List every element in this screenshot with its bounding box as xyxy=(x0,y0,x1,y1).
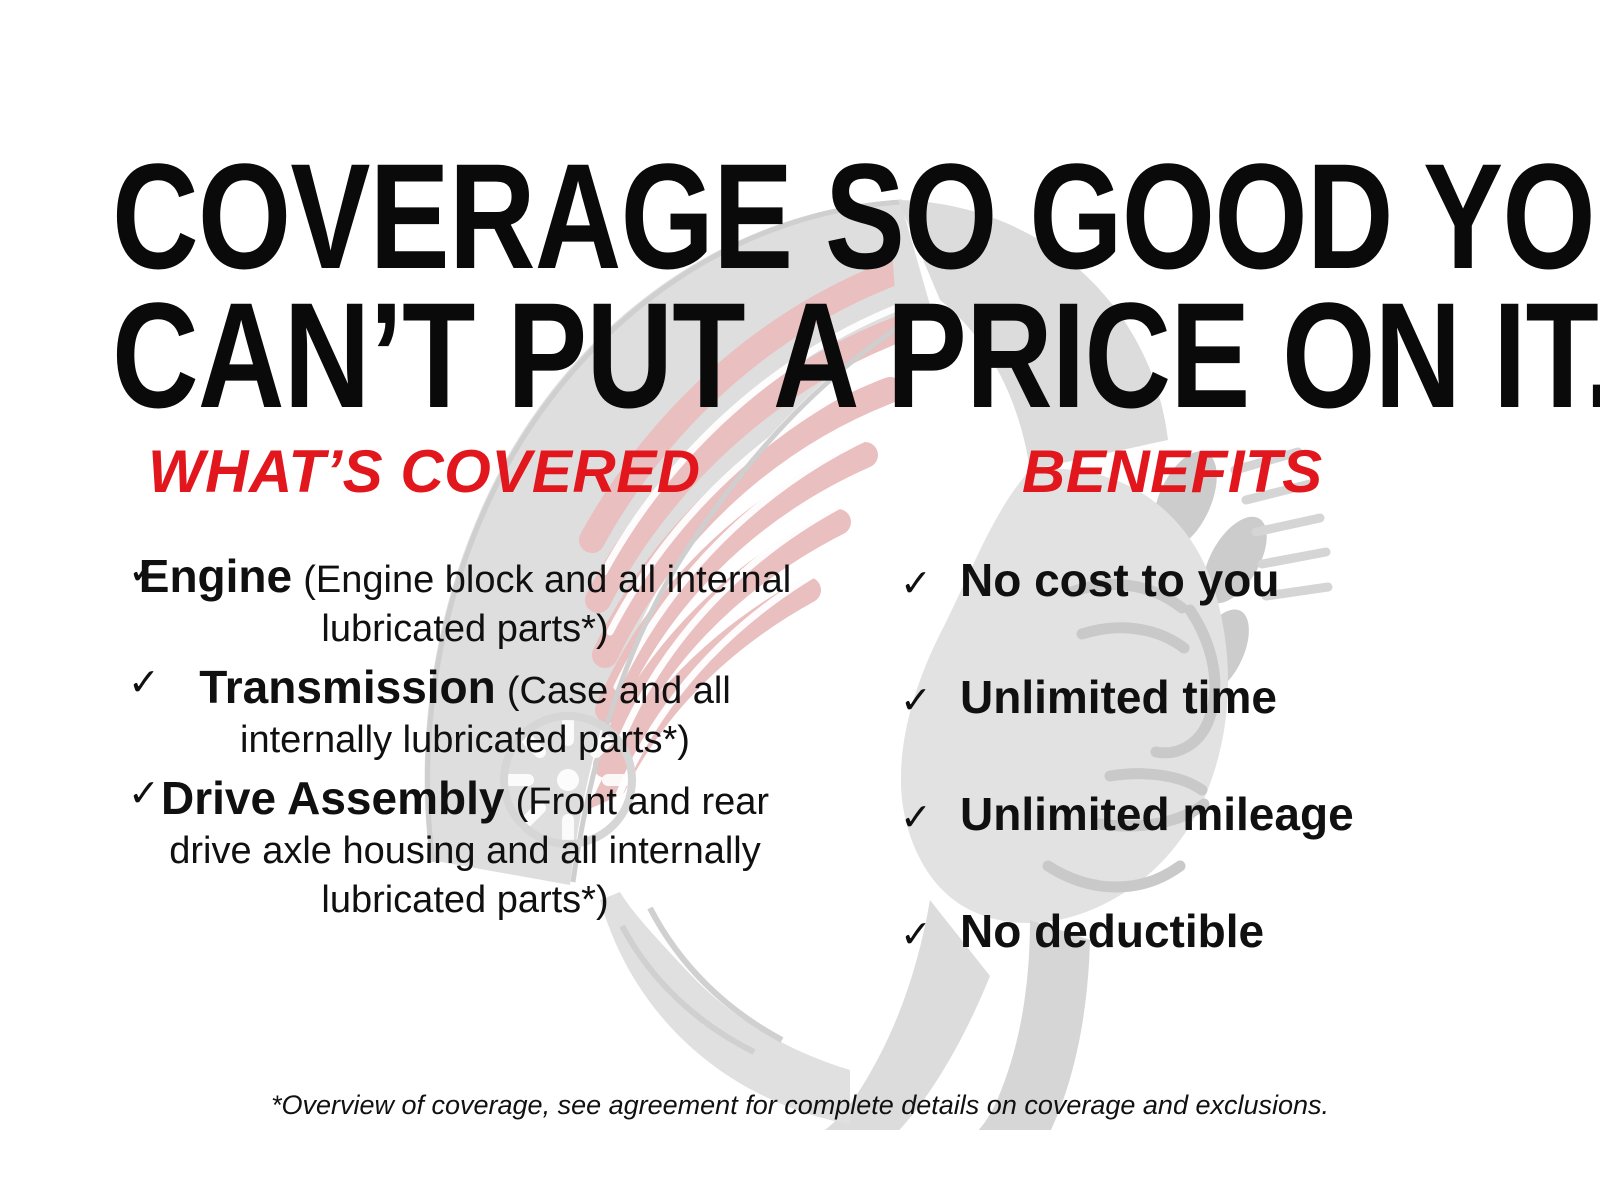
check-icon: ✓ xyxy=(900,565,960,605)
covered-item-term: Transmission xyxy=(199,661,496,713)
covered-list: ✓ Engine (Engine block and all internal … xyxy=(120,548,810,930)
covered-column-heading: WHAT’S COVERED xyxy=(148,437,701,506)
benefit-label: Unlimited time xyxy=(960,671,1277,723)
check-icon: ✓ xyxy=(900,799,960,839)
benefits-column-heading: BENEFITS xyxy=(1022,437,1323,506)
check-icon: ✓ xyxy=(128,550,160,596)
footnote-disclaimer: *Overview of coverage, see agreement for… xyxy=(0,1090,1600,1121)
benefit-label: No deductible xyxy=(960,905,1264,957)
list-item: ✓Unlimited mileage xyxy=(900,790,1540,907)
slide-canvas: COVERAGE SO GOOD YOU CAN’T PUT A PRICE O… xyxy=(0,0,1600,1200)
benefits-list: ✓No cost to you ✓Unlimited time ✓Unlimit… xyxy=(900,556,1540,1024)
list-item: ✓ Engine (Engine block and all internal … xyxy=(120,548,810,653)
list-item: ✓Unlimited time xyxy=(900,673,1540,790)
covered-item-term: Engine xyxy=(139,550,292,602)
check-icon: ✓ xyxy=(900,682,960,722)
benefit-label: Unlimited mileage xyxy=(960,788,1354,840)
headline-line-2: CAN’T PUT A PRICE ON IT. xyxy=(112,286,1232,426)
check-icon: ✓ xyxy=(128,772,160,818)
list-item: ✓ Transmission (Case and all internally … xyxy=(120,659,810,764)
headline-line-1: COVERAGE SO GOOD YOU xyxy=(112,147,1232,287)
list-item: ✓No deductible xyxy=(900,907,1540,1024)
list-item: ✓No cost to you xyxy=(900,556,1540,673)
benefit-label: No cost to you xyxy=(960,554,1279,606)
covered-item-term: Drive Assembly xyxy=(161,772,504,824)
check-icon: ✓ xyxy=(128,661,160,707)
check-icon: ✓ xyxy=(900,916,960,956)
covered-item-desc: (Engine block and all internal lubricate… xyxy=(303,559,791,650)
list-item: ✓ Drive Assembly (Front and rear drive a… xyxy=(120,770,810,924)
page-title: COVERAGE SO GOOD YOU CAN’T PUT A PRICE O… xyxy=(112,147,1232,426)
